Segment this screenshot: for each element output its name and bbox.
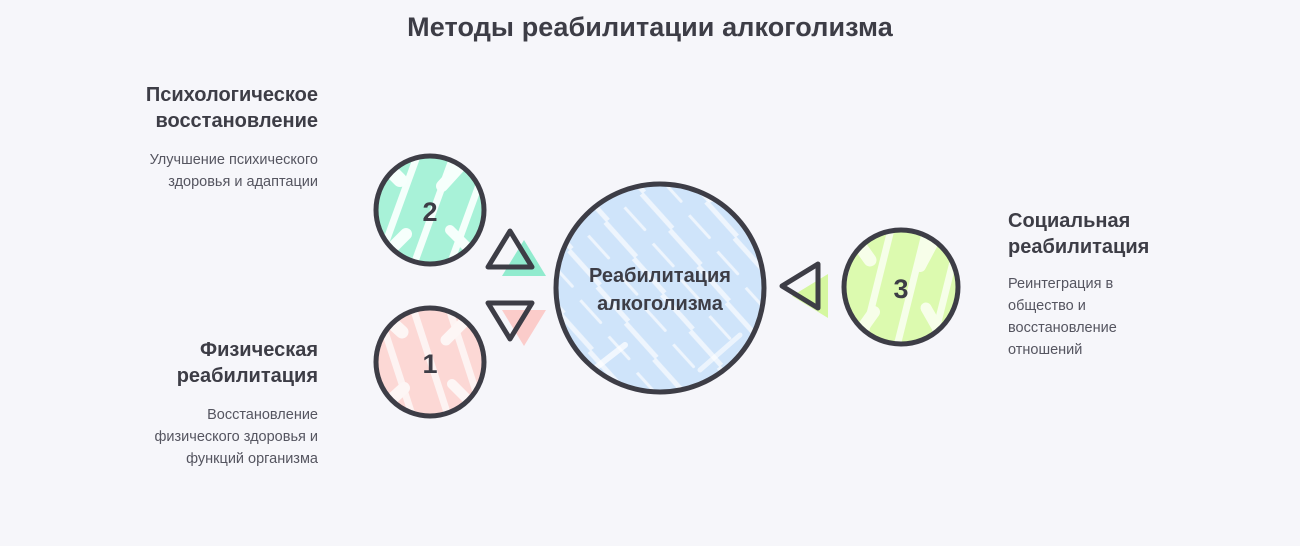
node-social-number: 3 (893, 274, 908, 304)
triangle-up-icon (488, 231, 546, 276)
branch-description-social: Реинтеграция в общество и восстановление… (1008, 273, 1278, 361)
branch-heading-physical: Физическая реабилитация (0, 337, 318, 390)
branch-heading-line1: Социальная (1008, 208, 1278, 234)
node-psychological[interactable]: 2 (376, 156, 484, 264)
triangle-left-icon (782, 264, 828, 318)
branch-heading-psychological: Психологическое восстановление (0, 82, 318, 135)
triangle-down-icon (488, 303, 546, 346)
branch-heading-line1: Физическая (0, 337, 318, 363)
node-physical[interactable]: 1 (376, 308, 484, 416)
branch-label-psychological: Психологическое восстановление Улучшение… (0, 82, 318, 193)
branch-heading-line2: реабилитация (0, 363, 318, 389)
page-title: Методы реабилитации алкоголизма (0, 12, 1300, 43)
branch-label-social: Социальная реабилитация Реинтеграция в о… (1008, 208, 1278, 361)
node-psychological-number: 2 (422, 197, 437, 227)
branch-description-psychological: Улучшение психического здоровья и адапта… (0, 149, 318, 193)
diagram-canvas: Методы реабилитации алкоголизма Психолог… (0, 0, 1300, 546)
branch-heading-line1: Психологическое (0, 82, 318, 108)
center-node-label-line1: Реабилитация (589, 265, 731, 287)
branch-label-physical: Физическая реабилитация Восстановление ф… (0, 337, 318, 470)
center-node[interactable]: Реабилитация алкоголизма (556, 170, 764, 392)
branch-heading-line2: реабилитация (1008, 234, 1278, 260)
branch-description-physical: Восстановление физического здоровья и фу… (0, 404, 318, 470)
rehabilitation-diagram: Реабилитация алкоголизма 2 (350, 130, 990, 430)
branch-heading-line2: восстановление (0, 108, 318, 134)
center-node-label-line2: алкоголизма (597, 293, 724, 315)
node-social[interactable]: 3 (844, 230, 958, 344)
node-physical-number: 1 (422, 349, 437, 379)
branch-heading-social: Социальная реабилитация (1008, 208, 1278, 261)
